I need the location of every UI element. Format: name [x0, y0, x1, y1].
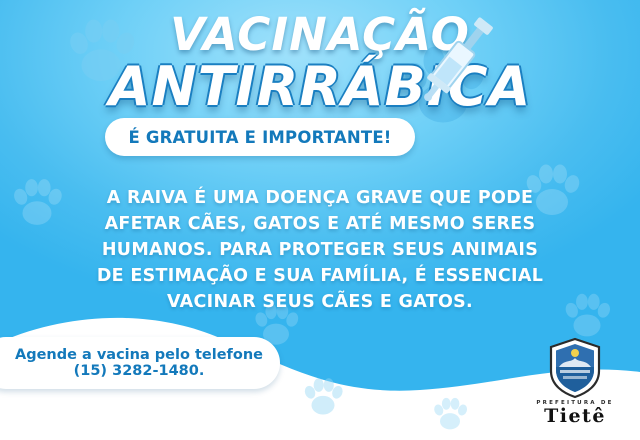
body-line: AFETAR CÃES, GATOS E ATÉ MESMO SERES	[50, 211, 590, 237]
body-line: VACINAR SEUS CÃES E GATOS.	[50, 289, 590, 315]
coat-of-arms-icon	[547, 337, 603, 399]
title-line-2: ANTIRRÁBICA	[0, 55, 640, 118]
body-line: A RAIVA É UMA DOENÇA GRAVE QUE PODE	[50, 185, 590, 211]
body-paragraph: A RAIVA É UMA DOENÇA GRAVE QUE PODE AFET…	[50, 185, 590, 315]
syringe-icon	[392, 6, 522, 114]
phone-number: (15) 3282-1480.	[56, 363, 205, 379]
badge-label: É GRATUITA E IMPORTANTE!	[128, 128, 391, 147]
poster-canvas: VACINAÇÃO ANTIRRÁBICA É GRATUITA E IMPOR…	[0, 0, 640, 440]
body-line: HUMANOS. PARA PROTEGER SEUS ANIMAIS	[50, 237, 590, 263]
title-line-1: VACINAÇÃO	[0, 8, 640, 61]
phone-instruction: Agende a vacina pelo telefone	[0, 347, 263, 363]
body-line: DE ESTIMAÇÃO E SUA FAMÍLIA, É ESSENCIAL	[50, 263, 590, 289]
free-and-important-badge: É GRATUITA E IMPORTANTE!	[105, 118, 415, 156]
phone-callout: Agende a vacina pelo telefone (15) 3282-…	[0, 337, 280, 389]
poster-header: VACINAÇÃO ANTIRRÁBICA	[0, 0, 640, 118]
city-crest: PREFEITURA DE Tietê	[532, 337, 618, 426]
city-name: Tietê	[532, 406, 618, 426]
